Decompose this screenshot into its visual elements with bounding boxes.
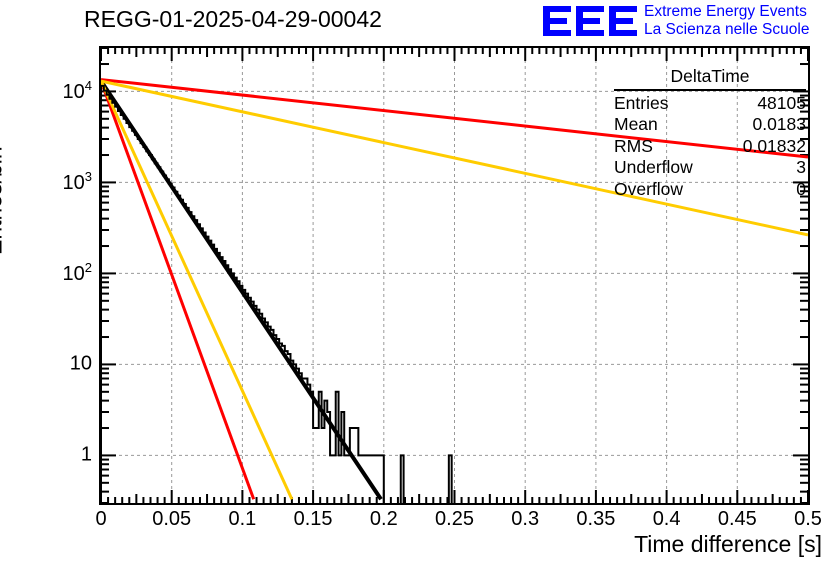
stats-row: Overflow0	[614, 179, 806, 201]
logo-line-2: La Scienza nelle Scuole	[644, 21, 836, 39]
stats-row-name: RMS	[614, 136, 653, 158]
y-tick-label: 104	[63, 79, 92, 105]
stats-title: DeltaTime	[614, 66, 806, 89]
statistics-box: DeltaTime Entries48105Mean0.0183RMS0.018…	[614, 66, 806, 200]
stats-row: Underflow3	[614, 157, 806, 179]
stats-divider	[614, 89, 806, 91]
x-tick-label: 0.25	[435, 508, 474, 531]
x-tick-label: 0.05	[152, 508, 191, 531]
stats-row-value: 3	[796, 157, 806, 179]
eee-logo-mark	[543, 5, 638, 37]
stats-row-value: 48105	[757, 93, 806, 115]
logo-line-1: Extreme Energy Events	[644, 3, 836, 21]
x-tick-label: 0.35	[576, 508, 615, 531]
stats-row-name: Underflow	[614, 157, 693, 179]
x-axis-title: Time difference [s]	[634, 531, 822, 558]
stats-row-value: 0.0183	[752, 114, 806, 136]
series-line-red-steep	[101, 81, 254, 499]
stats-row-value: 0	[796, 179, 806, 201]
eee-logo: Extreme Energy Events La Scienza nelle S…	[543, 2, 836, 42]
x-tick-label: 0.3	[511, 508, 539, 531]
stats-row-value: 0.01832	[743, 136, 806, 158]
x-tick-label: 0.5	[794, 508, 822, 531]
series-histogram	[101, 86, 452, 503]
y-tick-label: 10	[70, 353, 92, 376]
stats-row-name: Mean	[614, 114, 658, 136]
x-tick-label: 0.2	[370, 508, 398, 531]
stats-row-name: Overflow	[614, 179, 683, 201]
x-tick-label: 0.1	[228, 508, 256, 531]
stats-row: Mean0.0183	[614, 114, 806, 136]
x-tick-label: 0.4	[653, 508, 681, 531]
stats-rows: Entries48105Mean0.0183RMS0.01832Underflo…	[614, 93, 806, 201]
series-line-yellow-steep	[101, 81, 292, 499]
y-tick-label: 103	[63, 170, 92, 196]
stats-row: RMS0.01832	[614, 136, 806, 158]
stats-row-name: Entries	[614, 93, 668, 115]
eee-logo-text: Extreme Energy Events La Scienza nelle S…	[644, 3, 836, 39]
x-tick-label: 0.15	[294, 508, 333, 531]
y-tick-label: 102	[63, 261, 92, 287]
plot-canvas: REGG-01-2025-04-29-00042 Extreme Energy …	[0, 0, 836, 572]
x-tick-label: 0	[95, 508, 106, 531]
y-axis-title: Entries/bin	[0, 146, 8, 255]
x-tick-label: 0.45	[718, 508, 757, 531]
stats-row: Entries48105	[614, 93, 806, 115]
page-title: REGG-01-2025-04-29-00042	[84, 6, 382, 33]
y-tick-label: 1	[81, 444, 92, 467]
